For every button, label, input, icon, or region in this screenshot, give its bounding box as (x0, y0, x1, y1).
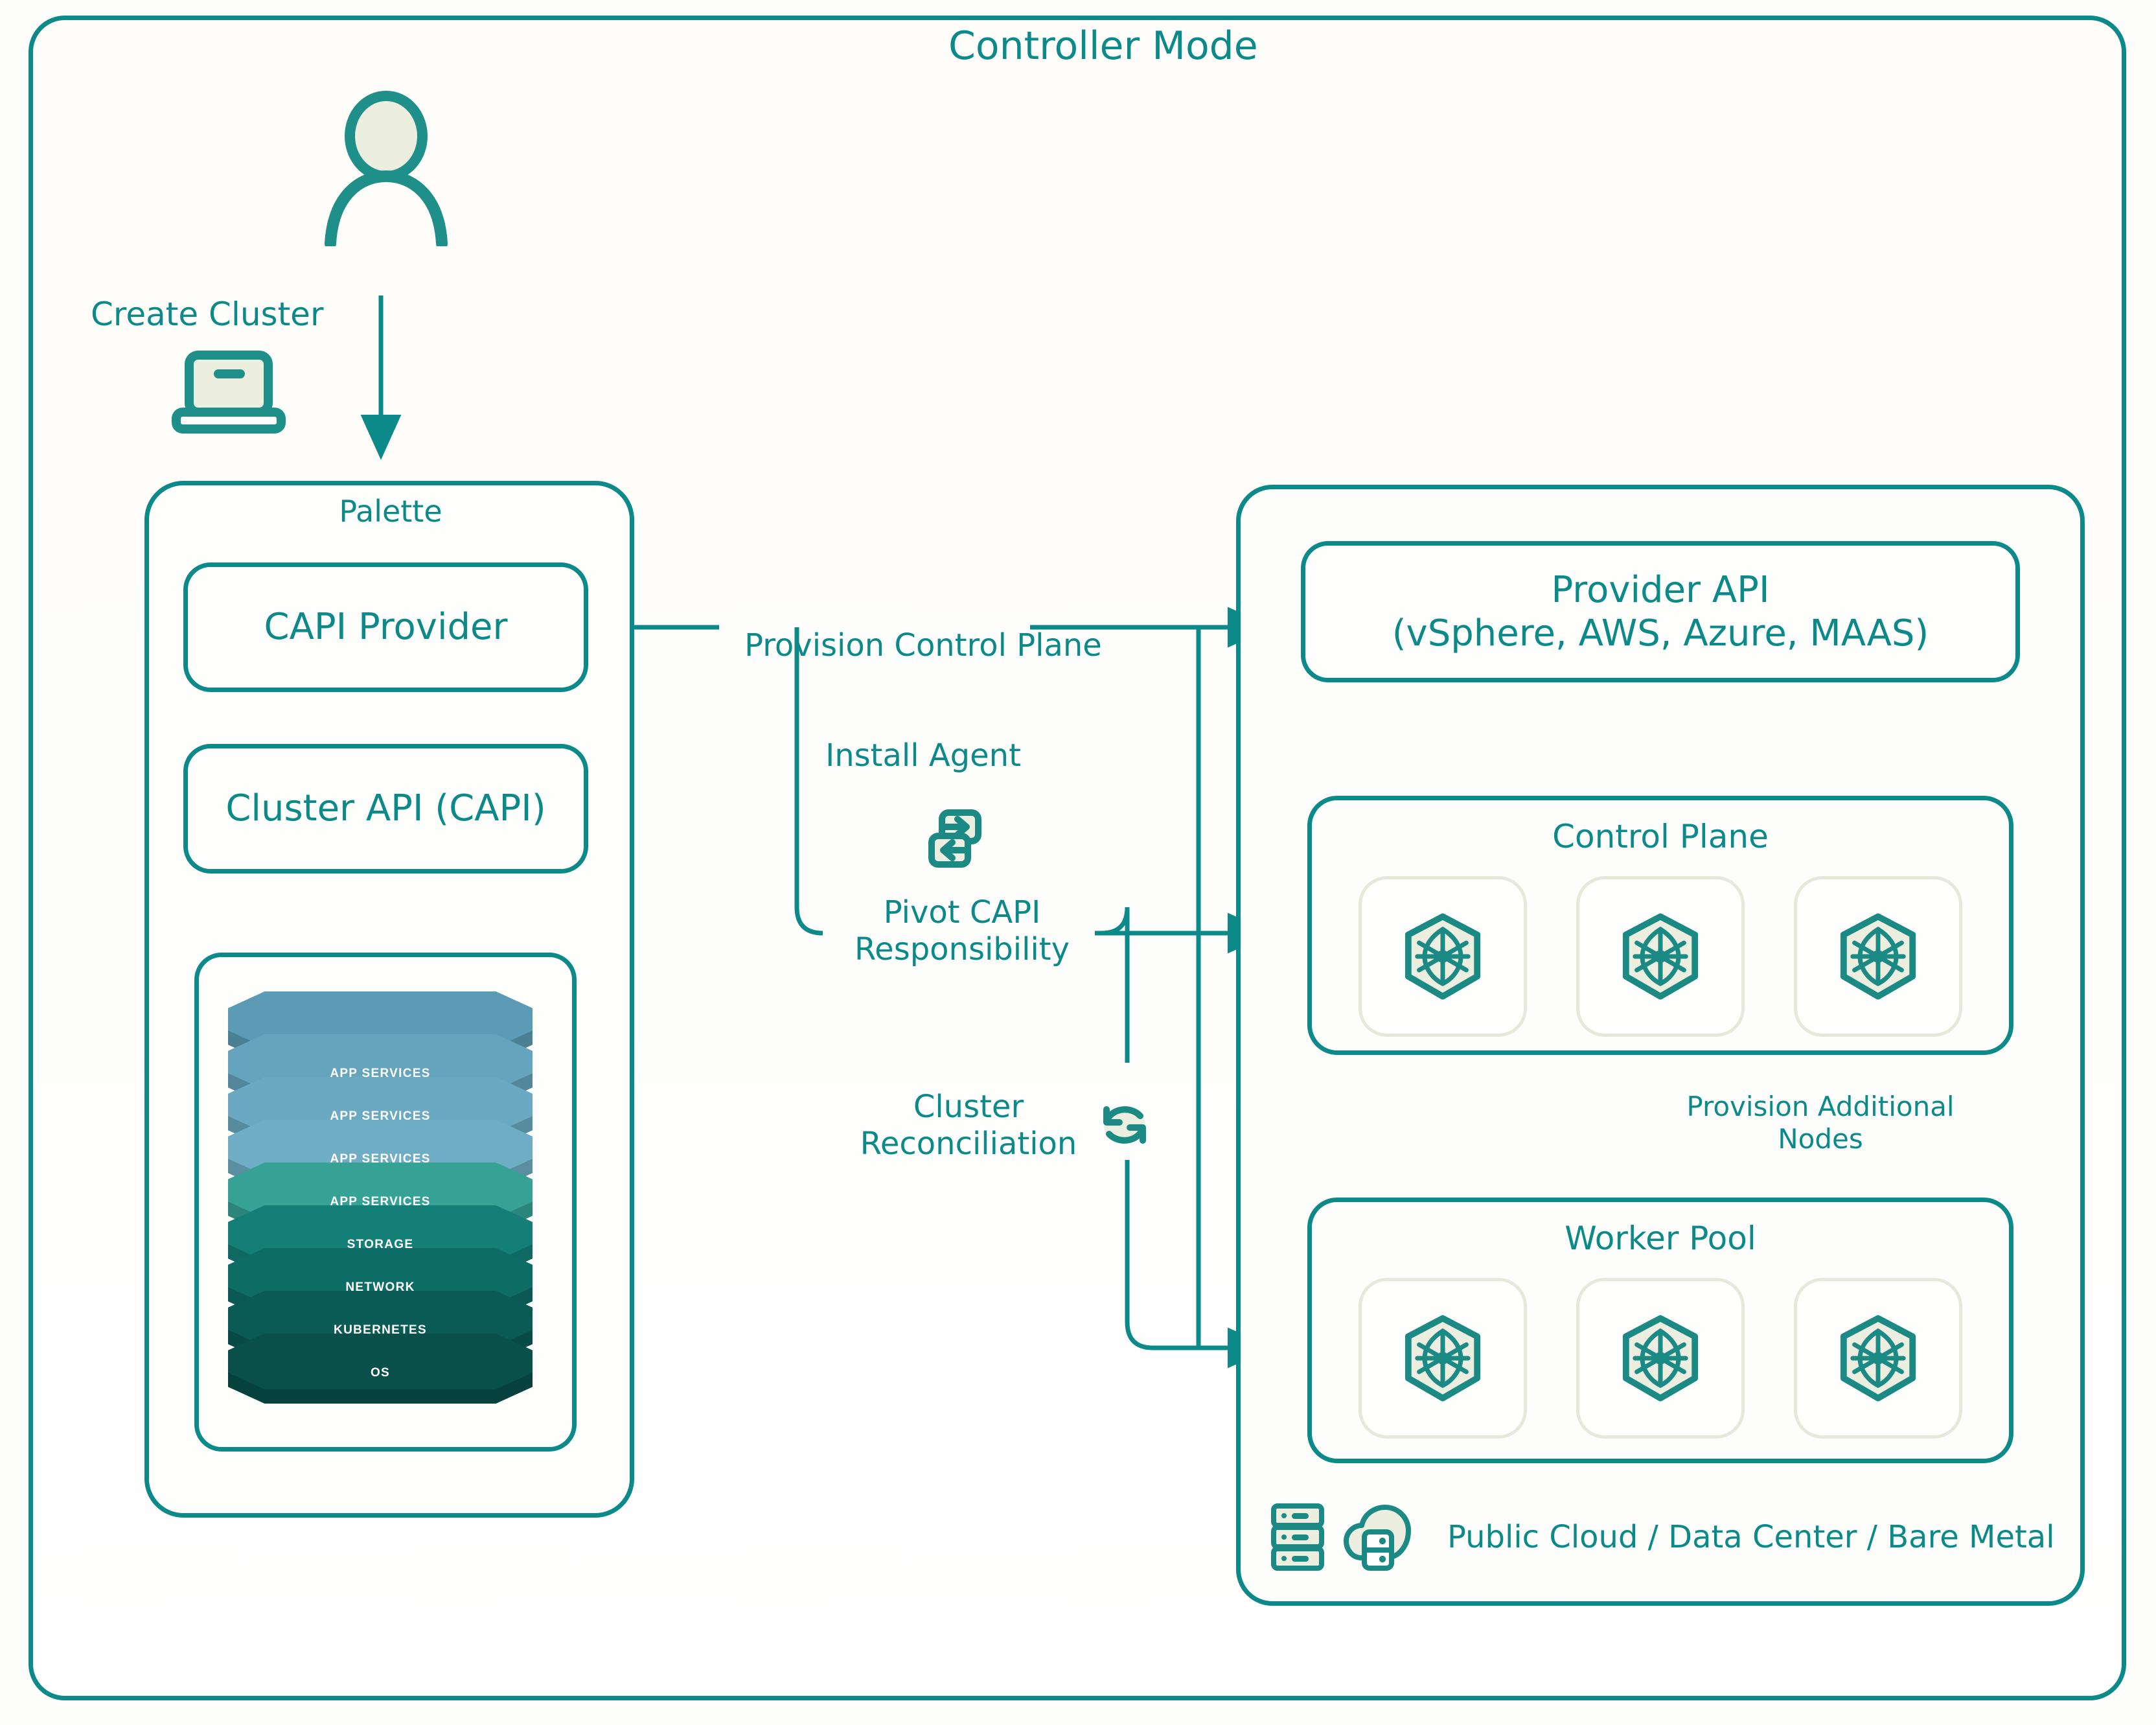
profile-layer: OS (228, 1334, 533, 1389)
refresh-sync-icon (1094, 1094, 1156, 1159)
control-plane-node[interactable] (1359, 876, 1527, 1037)
profile-layer-label: OS (228, 1366, 533, 1380)
control-plane-title: Control Plane (1307, 818, 2013, 855)
worker-pool-node-row (1307, 1278, 2013, 1439)
kubernetes-icon (1615, 1313, 1706, 1404)
create-cluster-label: Create Cluster (91, 295, 324, 334)
server-rack-icon (1270, 1503, 1325, 1571)
laptop-icon (171, 350, 286, 437)
control-plane-node-row (1307, 876, 2013, 1037)
infrastructure-footer-label: Public Cloud / Data Center / Bare Metal (1447, 1519, 2055, 1555)
user-person-icon (302, 91, 470, 249)
profile-layer-face (228, 1334, 533, 1389)
provider-api-label: Provider API (vSphere, AWS, Azure, MAAS) (1392, 568, 1929, 655)
infrastructure-footer: Public Cloud / Data Center / Bare Metal (1270, 1503, 2055, 1571)
pivot-capi-label: Pivot CAPI Responsibility (836, 894, 1088, 967)
control-plane-node[interactable] (1576, 876, 1745, 1037)
worker-pool-node[interactable] (1794, 1278, 1962, 1439)
swap-exchange-icon (925, 809, 985, 871)
worker-pool-node[interactable] (1576, 1278, 1745, 1439)
palette-title: Palette (329, 494, 452, 529)
cluster-api-label: Cluster API (CAPI) (225, 787, 545, 830)
install-agent-label: Install Agent (713, 737, 1134, 774)
cluster-api-box[interactable]: Cluster API (CAPI) (183, 744, 588, 874)
kubernetes-icon (1615, 911, 1706, 1002)
provision-additional-nodes-label: Provision Additional Nodes (1671, 1091, 1969, 1155)
cluster-profile-stack: APP SERVICESAPP SERVICESAPP SERVICESAPP … (228, 991, 533, 1354)
provider-api-box[interactable]: Provider API (vSphere, AWS, Azure, MAAS) (1301, 541, 2020, 682)
worker-pool-title: Worker Pool (1307, 1220, 2013, 1257)
cluster-reconciliation-label: Cluster Reconciliation (842, 1089, 1095, 1162)
kubernetes-icon (1397, 911, 1488, 1002)
capi-provider-box[interactable]: CAPI Provider (183, 562, 588, 692)
control-plane-node[interactable] (1794, 876, 1962, 1037)
diagram-canvas: Controller Mode (0, 0, 2156, 1725)
provision-control-plane-group: Provision Control Plane Install Agent (713, 554, 1134, 848)
kubernetes-icon (1833, 911, 1923, 1002)
kubernetes-icon (1833, 1313, 1923, 1404)
capi-provider-label: CAPI Provider (264, 605, 507, 649)
worker-pool-node[interactable] (1359, 1278, 1527, 1439)
kubernetes-icon (1397, 1313, 1488, 1404)
provision-control-plane-label: Provision Control Plane (713, 627, 1134, 664)
cloud-server-icon (1344, 1503, 1412, 1571)
diagram-title: Controller Mode (948, 23, 1258, 69)
